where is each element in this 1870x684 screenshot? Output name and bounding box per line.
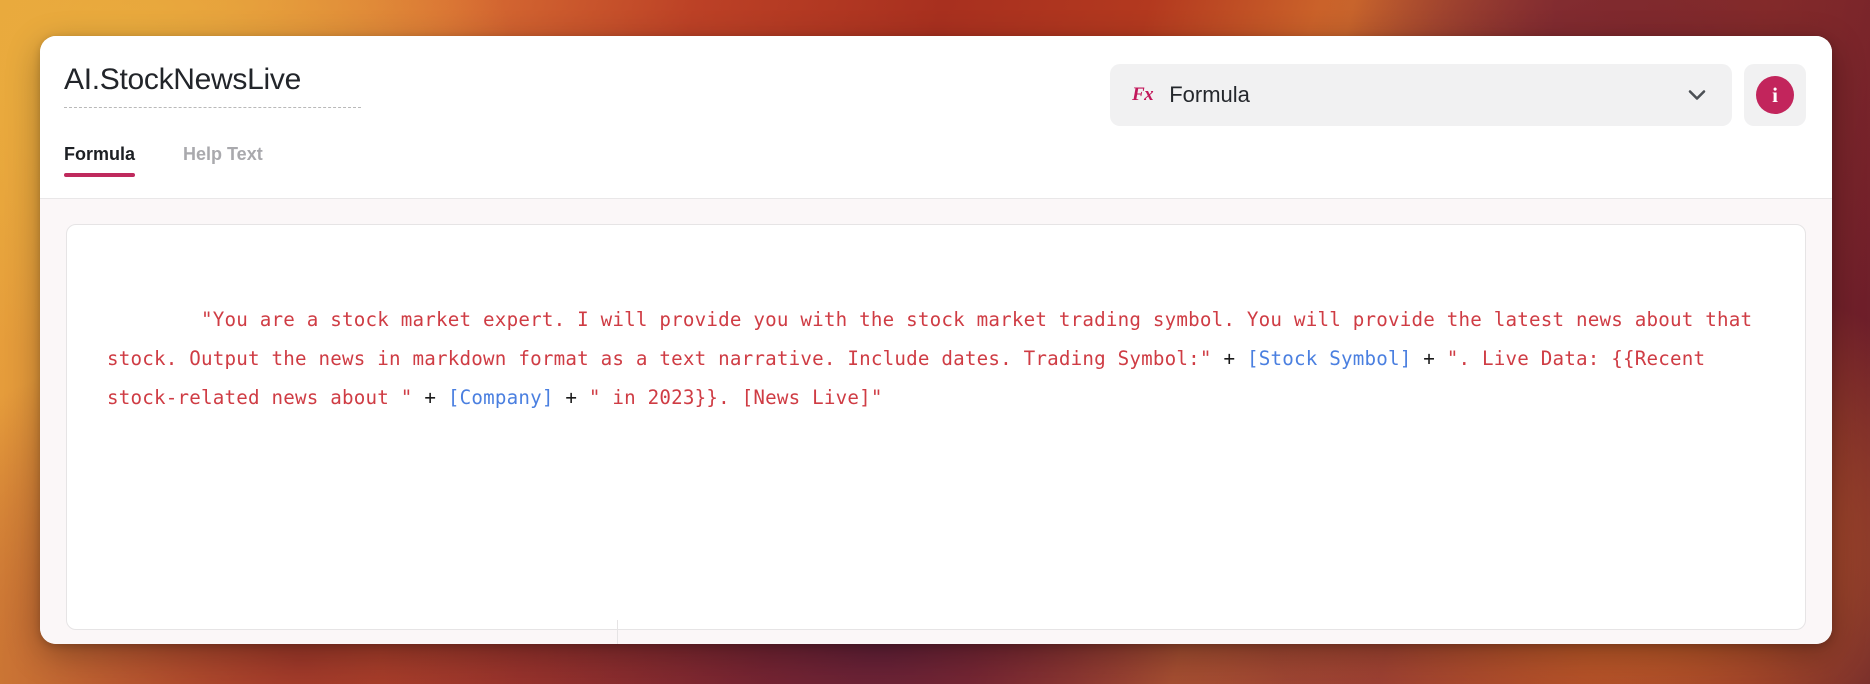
formula-token-operator: +: [413, 386, 448, 409]
formula-token-operator: +: [554, 386, 589, 409]
title-wrap: AI.StockNewsLive: [64, 61, 364, 108]
formula-text: "You are a stock market expert. I will p…: [107, 261, 1765, 456]
formula-type-select-value: Formula: [1169, 82, 1684, 108]
info-icon: i: [1756, 76, 1794, 114]
title-underline-divider: [64, 107, 361, 108]
tab-help-text[interactable]: Help Text: [183, 144, 263, 177]
formula-type-select[interactable]: Fx Formula: [1110, 64, 1732, 126]
info-button[interactable]: i: [1744, 64, 1806, 126]
tab-bar: Formula Help Text: [64, 144, 263, 177]
tab-formula[interactable]: Formula: [64, 144, 135, 177]
formula-token-string: " in 2023}}. [News Live]": [589, 386, 883, 409]
bottom-divider: [617, 620, 618, 644]
formula-input[interactable]: "You are a stock market expert. I will p…: [66, 224, 1806, 630]
formula-token-operator: +: [1411, 347, 1446, 370]
formula-token-operator: +: [1212, 347, 1247, 370]
formula-token-reference: [Company]: [448, 386, 554, 409]
formula-editor-card: AI.StockNewsLive Formula Help Text Fx Fo…: [40, 36, 1832, 644]
card-body: "You are a stock market expert. I will p…: [40, 199, 1832, 644]
page-title: AI.StockNewsLive: [64, 61, 364, 99]
fx-icon: Fx: [1132, 84, 1153, 106]
card-header: AI.StockNewsLive Formula Help Text Fx Fo…: [40, 36, 1832, 199]
chevron-down-icon[interactable]: [1684, 82, 1710, 108]
header-controls: Fx Formula i: [1110, 64, 1806, 126]
formula-token-reference: [Stock Symbol]: [1247, 347, 1412, 370]
